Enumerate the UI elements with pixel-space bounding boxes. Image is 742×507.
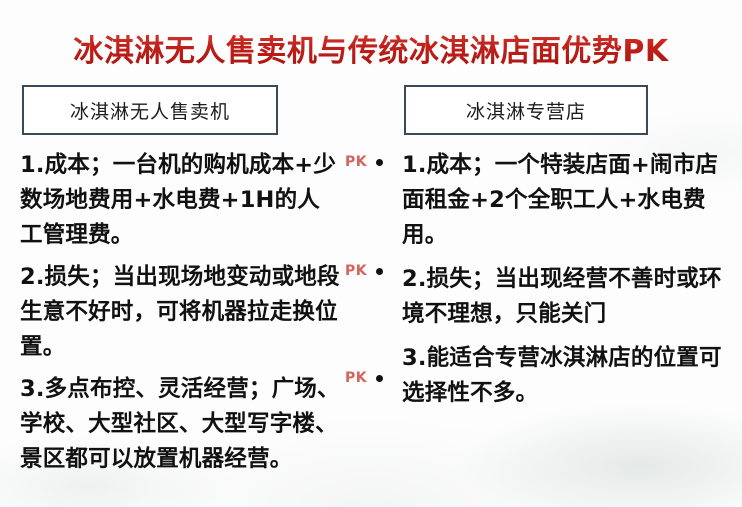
pk-marker-3: PK	[345, 371, 383, 385]
bullet-dot-icon	[376, 268, 383, 275]
right-item-1: 1.成本；一个特装店面+闹市店面租金+2个全职工人+水电费用。	[402, 148, 722, 253]
right-item-3: 3.能适合专营冰淇淋店的位置可选择性不多。	[402, 341, 722, 411]
left-column-header-box: 冰淇淋无人售卖机	[22, 85, 278, 135]
pk-marker-1: PK	[345, 155, 383, 169]
right-column-header-label: 冰淇淋专营店	[466, 97, 586, 124]
pk-label: PK	[345, 264, 367, 278]
pk-label: PK	[345, 155, 367, 169]
left-item-3: 3.多点布控、灵活经营；广场、学校、大型社区、大型写字楼、景区都可以放置机器经营…	[20, 372, 340, 477]
pk-marker-2: PK	[345, 264, 383, 278]
bullet-dot-icon	[376, 375, 383, 382]
left-column-header-label: 冰淇淋无人售卖机	[70, 97, 230, 124]
right-column-body: 1.成本；一个特装店面+闹市店面租金+2个全职工人+水电费用。 2.损失；当出现…	[402, 148, 722, 420]
right-column-header-box: 冰淇淋专营店	[404, 85, 648, 135]
left-item-1: 1.成本；一台机的购机成本+少数场地费用+水电费+1H的人工管理费。	[20, 148, 340, 253]
bullet-dot-icon	[376, 159, 383, 166]
page-title: 冰淇淋无人售卖机与传统冰淇淋店面优势PK	[0, 26, 742, 70]
pk-label: PK	[345, 371, 367, 385]
comparison-slide: 冰淇淋无人售卖机与传统冰淇淋店面优势PK 冰淇淋无人售卖机 冰淇淋专营店 1.成…	[0, 0, 742, 507]
right-item-2: 2.损失；当出现经营不善时或环境不理想，只能关门	[402, 262, 722, 332]
left-column-body: 1.成本；一台机的购机成本+少数场地费用+水电费+1H的人工管理费。 2.损失；…	[20, 148, 340, 484]
left-item-2: 2.损失；当出现场地变动或地段生意不好时，可将机器拉走换位置。	[20, 260, 340, 365]
